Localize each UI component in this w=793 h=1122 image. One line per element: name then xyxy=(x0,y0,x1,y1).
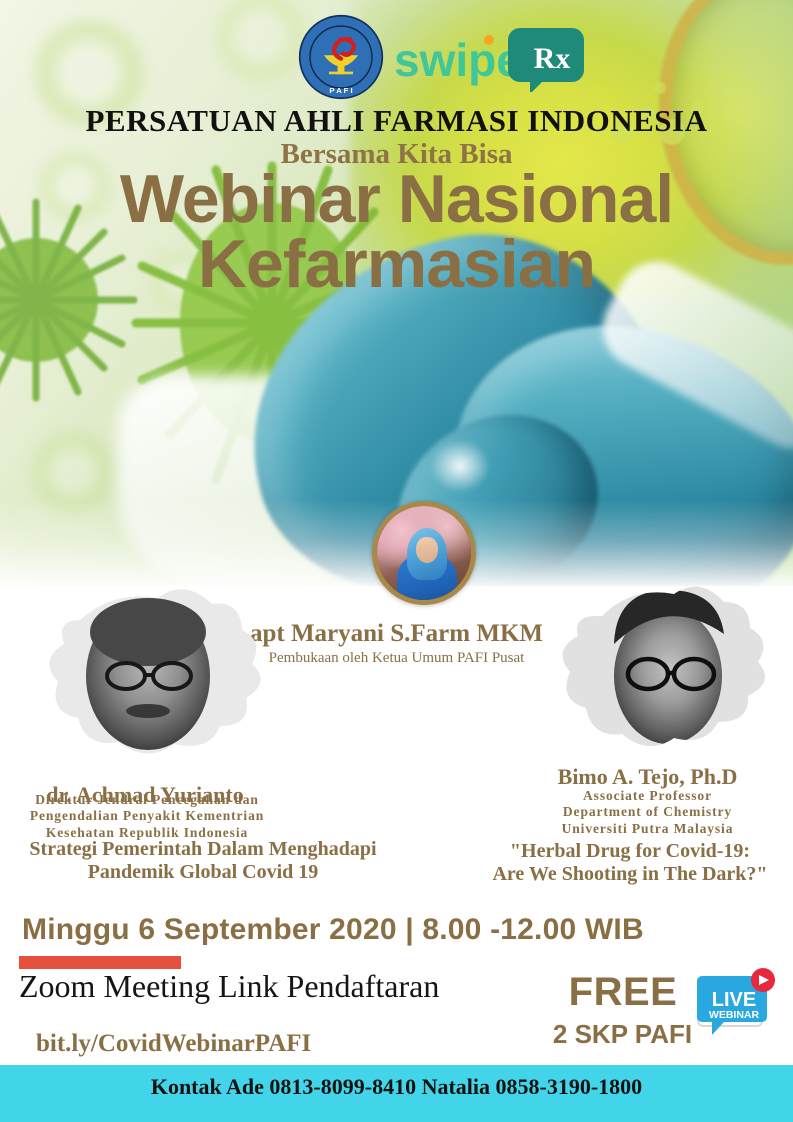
swiperx-dot-icon xyxy=(484,35,494,45)
avatar xyxy=(372,501,476,605)
pafi-logo-icon: P A F I xyxy=(298,14,384,100)
organization-title: PERSATUAN AHLI FARMASI INDONESIA xyxy=(0,103,793,139)
speaker-affiliation-right: Associate Professor Department of Chemis… xyxy=(505,788,790,837)
registration-link[interactable]: bit.ly/CovidWebinarPAFI xyxy=(36,1030,311,1058)
live-badge-line1: LIVE xyxy=(712,989,756,1011)
webinar-poster: P A F I swipe Rx PERSATUAN AHLI FARMASI … xyxy=(0,0,793,1122)
live-webinar-badge-icon: LIVE WEBINAR xyxy=(694,968,780,1050)
title-line-2: Kefarmasian xyxy=(0,232,793,297)
contact-info: Kontak Ade 0813-8099-8410 Natalia 0858-3… xyxy=(0,1074,793,1100)
speaker-photo-left xyxy=(22,580,272,765)
speaker-topic-right: "Herbal Drug for Covid-19: Are We Shooti… xyxy=(470,840,790,886)
swiperx-wordmark: swipe xyxy=(394,34,522,86)
price-badge: FREE xyxy=(548,970,698,1015)
page-title: Webinar Nasional Kefarmasian xyxy=(0,167,793,298)
swiperx-logo-icon: swipe Rx xyxy=(392,24,584,92)
speaker-photo-right xyxy=(552,578,777,768)
pafi-logo-bottom-text: P A F I xyxy=(329,86,352,95)
speaker-topic-left: Strategi Pemerintah Dalam Menghadapi Pan… xyxy=(0,838,408,884)
registration-label: Zoom Meeting Link Pendaftaran xyxy=(19,968,439,1005)
skp-credits: 2 SKP PAFI xyxy=(530,1019,715,1050)
logo-row: P A F I swipe Rx xyxy=(0,8,793,94)
event-date-time: Minggu 6 September 2020 | 8.00 -12.00 WI… xyxy=(22,913,644,947)
glove-highlight xyxy=(430,440,490,492)
live-badge-line2: WEBINAR xyxy=(709,1009,760,1021)
swiperx-rx-text: Rx xyxy=(534,42,571,75)
speaker-affiliation-left: Direktur Jendral Pencegahan dan Pengenda… xyxy=(2,792,292,841)
speaker-name-right: Bimo A. Tejo, Ph.D xyxy=(505,764,790,790)
